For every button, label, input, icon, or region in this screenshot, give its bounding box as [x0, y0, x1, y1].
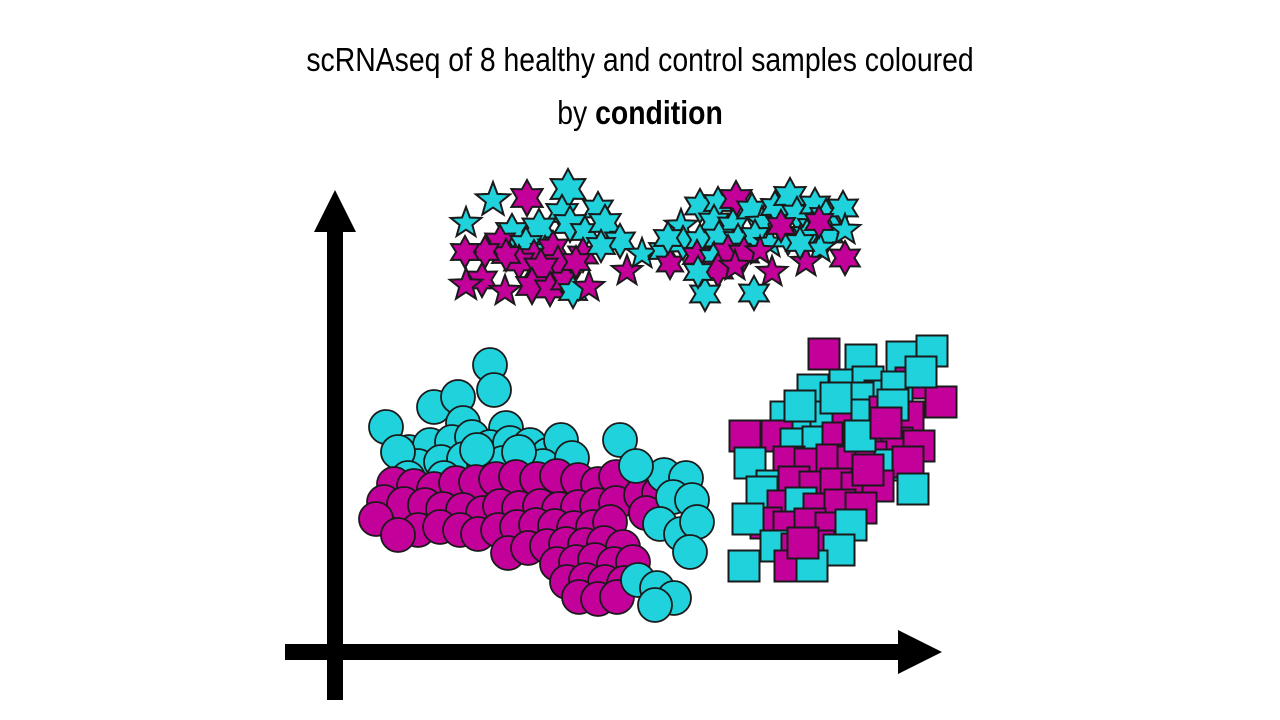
star-marker: [757, 256, 787, 285]
square-marker: [729, 551, 760, 582]
square-marker: [906, 357, 937, 388]
square-marker: [898, 474, 929, 505]
x-axis-shaft: [285, 644, 904, 660]
square-markers-group: [729, 336, 957, 582]
star-marker: [476, 182, 510, 215]
circle-marker: [673, 535, 707, 569]
circle-marker: [460, 433, 494, 467]
square-marker: [821, 383, 852, 414]
circle-marker: [638, 588, 672, 622]
star-markers-group: [450, 169, 860, 311]
square-marker: [926, 387, 957, 418]
circle-marker: [619, 449, 653, 483]
scatter-plot: [0, 0, 1280, 720]
circle-marker: [477, 373, 511, 407]
y-axis-arrowhead: [314, 190, 356, 232]
circle-marker: [381, 518, 415, 552]
star-marker: [490, 275, 520, 304]
square-marker: [733, 504, 764, 535]
star-marker: [551, 169, 586, 209]
star-marker: [451, 236, 479, 268]
circle-markers-group: [359, 348, 714, 622]
x-axis-arrowhead: [898, 630, 942, 674]
circle-marker: [680, 505, 714, 539]
star-marker: [830, 241, 859, 275]
y-axis-shaft: [327, 226, 343, 700]
square-marker: [853, 455, 884, 486]
square-marker: [871, 408, 902, 439]
figure-canvas: scRNAseq of 8 healthy and control sample…: [0, 0, 1280, 720]
star-marker: [451, 207, 481, 236]
square-marker: [788, 528, 819, 559]
square-marker: [785, 391, 816, 422]
square-marker: [809, 339, 840, 370]
